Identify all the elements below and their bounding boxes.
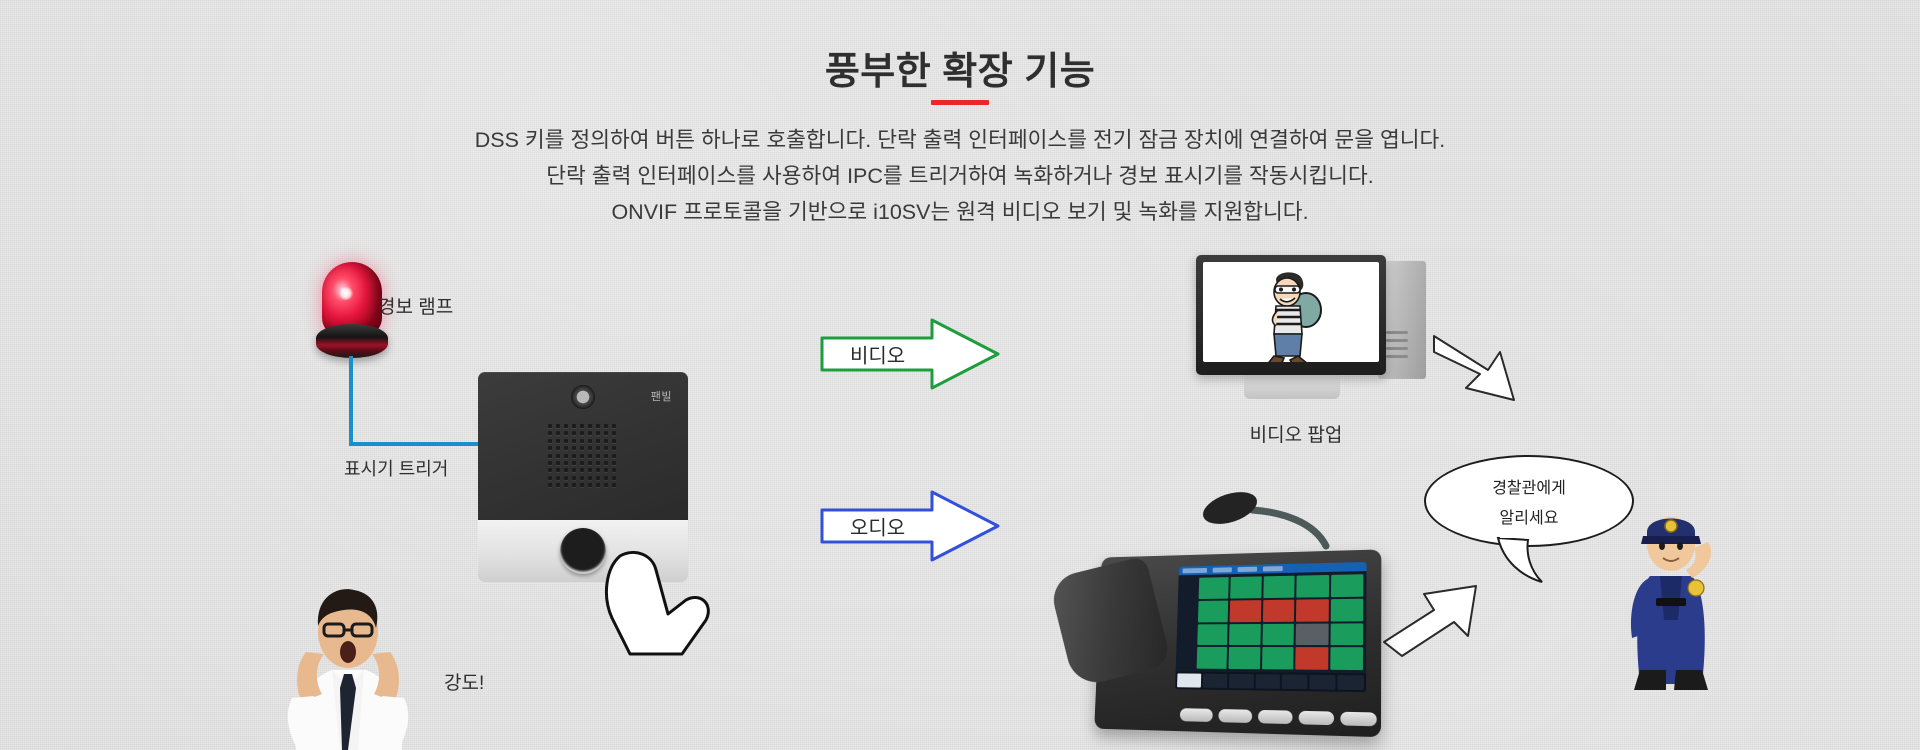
video-popup-computer (1196, 255, 1426, 400)
shocked-man-photo (262, 582, 432, 750)
subtitle-line-1: DSS 키를 정의하여 버튼 하나로 호출합니다. 단락 출력 인터페이스를 전… (0, 122, 1920, 158)
page-subtitle: DSS 키를 정의하여 버튼 하나로 호출합니다. 단락 출력 인터페이스를 전… (0, 122, 1920, 230)
burglar-cartoon-icon (1254, 268, 1328, 362)
phone-dss-key[interactable] (1262, 623, 1294, 645)
phone-dss-key[interactable] (1229, 647, 1260, 669)
phone-dss-key[interactable] (1296, 599, 1328, 621)
monitor-screen (1203, 262, 1379, 362)
phone-dss-key[interactable] (1263, 576, 1295, 598)
video-arrow: 비디오 (820, 318, 1000, 390)
shocked-man-label: 강도! (444, 668, 484, 695)
title-underline-rule (931, 100, 989, 105)
police-officer-icon (1616, 470, 1726, 690)
device-upper-panel: 팬빌 (478, 372, 688, 520)
phone-dss-key[interactable] (1198, 600, 1229, 622)
speech-bubble-line-2: 알리세요 (1500, 504, 1559, 528)
phone-dss-key[interactable] (1197, 624, 1228, 646)
page-title: 풍부한 확장 기능 (0, 40, 1920, 95)
monitor-frame (1196, 255, 1386, 375)
audio-arrow: 오디오 (820, 490, 1000, 562)
phone-hardkey-row[interactable] (1180, 708, 1377, 726)
phone-softkey-bar[interactable] (1175, 671, 1366, 692)
phone-dss-key[interactable] (1296, 575, 1328, 597)
monitor-stand (1244, 373, 1340, 399)
video-arrow-label: 비디오 (850, 340, 905, 369)
speech-bubble-tail (1496, 536, 1556, 586)
trigger-label: 표시기 트리거 (344, 455, 448, 481)
gooseneck-microphone-icon (1178, 488, 1338, 552)
phone-dss-key[interactable] (1295, 647, 1328, 669)
phone-dss-key[interactable] (1231, 576, 1262, 598)
speech-bubble: 경찰관에게 알리세요 (1424, 455, 1634, 547)
phone-dss-key[interactable] (1262, 647, 1294, 669)
speech-bubble-line-1: 경찰관에게 (1492, 474, 1566, 498)
phone-dss-key[interactable] (1199, 577, 1230, 599)
phone-dss-key[interactable] (1330, 623, 1363, 646)
phone-dss-key[interactable] (1197, 647, 1228, 669)
ip-phone (1060, 480, 1400, 750)
phone-screen (1175, 562, 1367, 692)
video-popup-label: 비디오 팝업 (1196, 420, 1396, 447)
pointing-hand-icon (590, 548, 720, 658)
subtitle-line-3: ONVIF 프로토콜을 기반으로 i10SV는 원격 비디오 보기 및 녹화를 … (0, 194, 1920, 230)
speaker-grille (548, 424, 618, 490)
phone-dss-key[interactable] (1230, 600, 1261, 622)
phone-dss-key[interactable] (1330, 647, 1363, 670)
subtitle-line-2: 단락 출력 인터페이스를 사용하여 IPC를 트리거하여 녹화하거나 경보 표시… (0, 158, 1920, 194)
phone-dss-key[interactable] (1330, 598, 1363, 621)
phone-dss-key[interactable] (1296, 623, 1328, 645)
device-brand-logo: 팬빌 (651, 388, 672, 404)
phone-dss-key-grid[interactable] (1176, 571, 1367, 673)
alarm-lamp-base (316, 324, 388, 358)
diagram-stage: 풍부한 확장 기능 DSS 키를 정의하여 버튼 하나로 호출합니다. 단락 출… (0, 0, 1920, 750)
phone-dss-key[interactable] (1229, 623, 1260, 645)
alarm-lamp-label: 경보 램프 (378, 292, 453, 319)
audio-arrow-label: 오디오 (850, 512, 905, 541)
trigger-line-horizontal (349, 442, 491, 446)
camera-lens-icon (571, 385, 595, 409)
phone-dss-key[interactable] (1263, 599, 1295, 621)
popup-callout-arrow (1432, 330, 1528, 409)
trigger-line-vertical (349, 356, 353, 446)
phone-dss-key[interactable] (1331, 574, 1364, 597)
